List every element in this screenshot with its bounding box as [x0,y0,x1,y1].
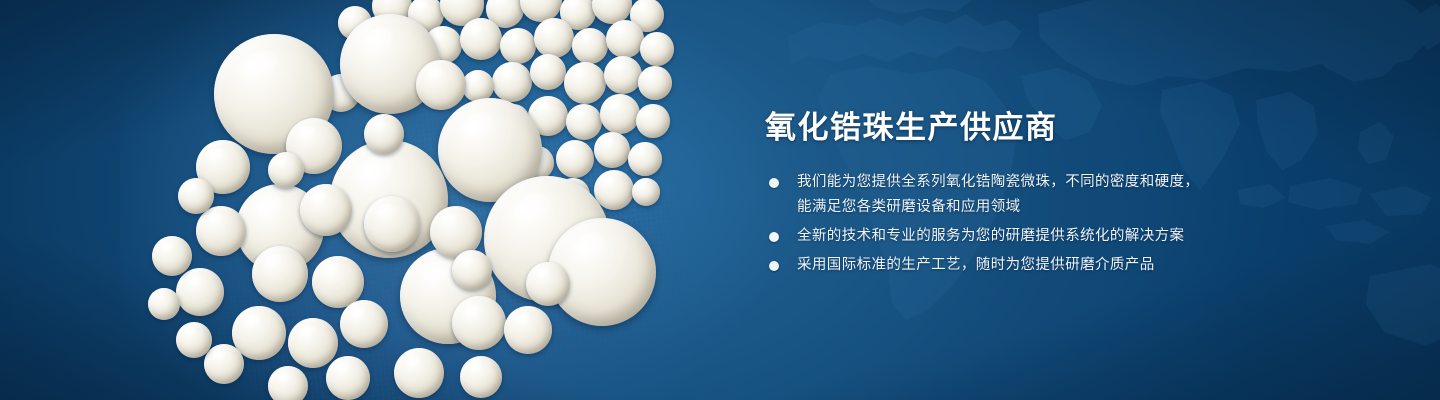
bullet-line-2: 能满足您各类研磨设备和应用领域 [797,195,1325,220]
feature-bullet-list: 我们能为您提供全系列氧化锆陶瓷微珠，不同的密度和硬度， 能满足您各类研磨设备和应… [765,170,1325,278]
list-item: 我们能为您提供全系列氧化锆陶瓷微珠，不同的密度和硬度， 能满足您各类研磨设备和应… [765,170,1325,220]
page-title: 氧化锆珠生产供应商 [765,108,1325,148]
bullet-dot-icon [769,232,779,242]
banner-copy-block: 氧化锆珠生产供应商 我们能为您提供全系列氧化锆陶瓷微珠，不同的密度和硬度， 能满… [765,108,1325,282]
hero-banner: 氧化锆珠生产供应商 我们能为您提供全系列氧化锆陶瓷微珠，不同的密度和硬度， 能满… [0,0,1440,400]
list-item: 采用国际标准的生产工艺，随时为您提供研磨介质产品 [765,253,1325,278]
bullet-dot-icon [769,261,779,271]
list-item: 全新的技术和专业的服务为您的研磨提供系统化的解决方案 [765,224,1325,249]
bullet-line-1: 全新的技术和专业的服务为您的研磨提供系统化的解决方案 [797,228,1184,244]
bullet-line-1: 采用国际标准的生产工艺，随时为您提供研磨介质产品 [797,257,1155,273]
bullet-line-1: 我们能为您提供全系列氧化锆陶瓷微珠，不同的密度和硬度， [797,174,1199,190]
bullet-dot-icon [769,178,779,188]
